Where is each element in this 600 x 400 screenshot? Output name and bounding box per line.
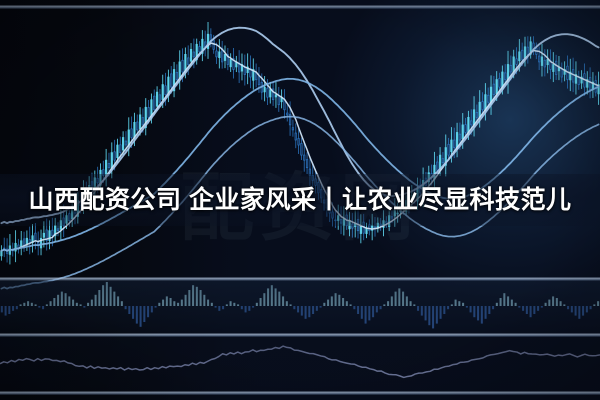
macd-bar bbox=[110, 287, 112, 306]
macd-bar bbox=[245, 306, 247, 312]
macd-bar bbox=[470, 306, 472, 312]
macd-bar bbox=[162, 300, 164, 306]
macd-bar bbox=[158, 303, 160, 306]
macd-bar bbox=[102, 285, 104, 306]
macd-bar bbox=[541, 306, 543, 308]
macd-bar bbox=[331, 296, 333, 306]
macd-bar bbox=[16, 306, 18, 309]
macd-bar bbox=[586, 306, 588, 312]
macd-bar bbox=[458, 301, 460, 306]
macd-bar bbox=[548, 300, 550, 306]
macd-bar bbox=[406, 296, 408, 306]
macd-bar bbox=[8, 306, 10, 314]
macd-bar bbox=[76, 303, 78, 306]
macd-bar bbox=[293, 306, 295, 309]
macd-bar bbox=[590, 306, 592, 309]
macd-bar bbox=[147, 306, 149, 317]
separator-top bbox=[0, 5, 600, 9]
macd-bar bbox=[23, 303, 25, 306]
macd-bar bbox=[335, 293, 337, 306]
macd-bar bbox=[578, 306, 580, 319]
macd-bar bbox=[196, 287, 198, 306]
macd-bar bbox=[113, 292, 115, 306]
macd-bar bbox=[308, 306, 310, 317]
macd-bar bbox=[563, 304, 565, 306]
macd-bar bbox=[593, 304, 595, 306]
macd-bar bbox=[218, 306, 220, 311]
macd-bar bbox=[252, 306, 254, 308]
chart-banner: 配资网 山西配资公司 企业家风采丨让农业尽显科技范儿 bbox=[0, 0, 600, 400]
macd-bar bbox=[556, 298, 558, 306]
macd-bar bbox=[503, 293, 505, 306]
macd-bar bbox=[188, 290, 190, 306]
macd-bar bbox=[46, 304, 48, 306]
macd-bar bbox=[323, 303, 325, 306]
macd-bar bbox=[1, 306, 3, 312]
macd-bar bbox=[192, 285, 194, 306]
macd-bar bbox=[237, 304, 239, 306]
macd-bar bbox=[466, 306, 468, 308]
macd-bar bbox=[342, 298, 344, 306]
macd-bar bbox=[65, 293, 67, 306]
macd-bar bbox=[410, 301, 412, 306]
macd-bar bbox=[57, 295, 59, 306]
macd-bar bbox=[477, 306, 479, 320]
macd-bar bbox=[522, 306, 524, 311]
macd-bar bbox=[361, 306, 363, 319]
macd-bar bbox=[106, 282, 108, 306]
macd-bar bbox=[155, 306, 157, 308]
macd-bar bbox=[226, 304, 228, 306]
macd-bar bbox=[481, 306, 483, 324]
macd-bar bbox=[488, 306, 490, 314]
ma-slow-line bbox=[1, 79, 598, 251]
macd-bar bbox=[350, 304, 352, 306]
macd-bar bbox=[365, 306, 367, 324]
macd-bar bbox=[121, 301, 123, 306]
macd-bar bbox=[35, 304, 37, 306]
macd-bar bbox=[455, 300, 457, 306]
macd-bar bbox=[203, 295, 205, 306]
macd-bar bbox=[473, 306, 475, 317]
macd-bar bbox=[436, 306, 438, 324]
candlestick-series bbox=[1, 22, 600, 264]
macd-bar bbox=[533, 306, 535, 314]
macd-bar bbox=[492, 306, 494, 309]
macd-bar bbox=[462, 303, 464, 306]
macd-bar bbox=[286, 301, 288, 306]
macd-bar bbox=[181, 300, 183, 306]
macd-bar bbox=[50, 301, 52, 306]
macd-bar bbox=[282, 296, 284, 306]
macd-bar bbox=[305, 306, 307, 319]
macd-bar bbox=[53, 298, 55, 306]
macd-bar bbox=[185, 295, 187, 306]
macd-bar bbox=[98, 290, 100, 306]
macd-bar bbox=[387, 301, 389, 306]
macd-bar bbox=[177, 303, 179, 306]
macd-bar bbox=[320, 306, 322, 308]
macd-bar bbox=[372, 306, 374, 317]
macd-bar bbox=[413, 304, 415, 306]
macd-bar bbox=[80, 304, 82, 306]
macd-bar bbox=[132, 306, 134, 319]
macd-bar bbox=[128, 306, 130, 314]
macd-bar bbox=[27, 301, 29, 306]
macd-bar bbox=[443, 306, 445, 314]
macd-bar bbox=[425, 306, 427, 320]
macd-bar bbox=[297, 306, 299, 312]
macd-bar bbox=[215, 306, 217, 308]
macd-bar bbox=[207, 300, 209, 306]
macd-bar bbox=[567, 306, 569, 309]
macd-bar bbox=[248, 306, 250, 311]
macd-bar bbox=[515, 303, 517, 306]
macd-bar bbox=[38, 306, 40, 308]
macd-bar bbox=[391, 296, 393, 306]
macd-bar bbox=[597, 301, 599, 306]
macd-bar bbox=[143, 306, 145, 322]
macd-bar bbox=[357, 306, 359, 314]
macd-bar bbox=[376, 306, 378, 312]
macd-bar bbox=[496, 303, 498, 306]
macd-bar bbox=[526, 306, 528, 314]
macd-bar bbox=[271, 285, 273, 306]
macd-bar bbox=[485, 306, 487, 319]
macd-bar bbox=[380, 306, 382, 309]
macd-bar bbox=[368, 306, 370, 320]
macd-bar bbox=[275, 288, 277, 306]
macd-bar bbox=[346, 301, 348, 306]
macd-bar bbox=[432, 306, 434, 328]
macd-bar bbox=[353, 306, 355, 309]
macd-bar bbox=[125, 306, 127, 309]
macd-bar bbox=[170, 298, 172, 306]
macd-bar bbox=[571, 306, 573, 312]
separator-bottom bbox=[0, 391, 600, 395]
separator-macd-lower bbox=[0, 333, 600, 337]
macd-bar bbox=[338, 295, 340, 306]
macd-bar bbox=[447, 306, 449, 309]
macd-bar bbox=[20, 304, 22, 306]
macd-bar bbox=[5, 306, 7, 316]
macd-bar bbox=[278, 292, 280, 306]
macd-bar bbox=[267, 288, 269, 306]
page-title: 山西配资公司 企业家风采丨让农业尽显科技范儿 bbox=[0, 181, 600, 219]
macd-bar bbox=[91, 300, 93, 306]
macd-bar bbox=[395, 292, 397, 306]
macd-bar bbox=[140, 306, 142, 327]
macd-bar bbox=[500, 298, 502, 306]
macd-bar bbox=[327, 300, 329, 306]
macd-bar bbox=[398, 288, 400, 306]
macd-bar bbox=[417, 306, 419, 311]
macd-bar bbox=[68, 296, 70, 306]
macd-bar bbox=[290, 304, 292, 306]
macd-bar bbox=[301, 306, 303, 316]
macd-bar bbox=[31, 303, 33, 306]
macd-bar bbox=[173, 301, 175, 306]
macd-bar bbox=[552, 296, 554, 306]
macd-bar bbox=[211, 303, 213, 306]
macd-bar bbox=[263, 293, 265, 306]
macd-bar bbox=[383, 304, 385, 306]
macd-bar bbox=[233, 303, 235, 306]
lower-indicator-line bbox=[0, 346, 600, 377]
macd-bar bbox=[166, 296, 168, 306]
macd-bar bbox=[511, 300, 513, 306]
macd-bar bbox=[95, 295, 97, 306]
macd-bar bbox=[260, 298, 262, 306]
macd-bar bbox=[117, 296, 119, 306]
macd-bar bbox=[12, 306, 14, 311]
macd-bar bbox=[87, 303, 89, 306]
macd-bar bbox=[537, 306, 539, 311]
separator-price-macd bbox=[0, 277, 600, 281]
macd-bar bbox=[545, 303, 547, 306]
macd-bar bbox=[507, 296, 509, 306]
macd-bar bbox=[316, 306, 318, 311]
macd-bar bbox=[421, 306, 423, 316]
macd-bar bbox=[440, 306, 442, 319]
macd-bar bbox=[518, 306, 520, 308]
macd-bar bbox=[241, 306, 243, 309]
macd-bar bbox=[451, 304, 453, 306]
macd-bar bbox=[200, 290, 202, 306]
macd-bar bbox=[402, 292, 404, 306]
macd-bar bbox=[575, 306, 577, 316]
macd-bar bbox=[312, 306, 314, 314]
macd-bar bbox=[83, 306, 85, 308]
macd-bar bbox=[428, 306, 430, 325]
macd-bar bbox=[530, 306, 532, 317]
macd-bar bbox=[61, 292, 63, 306]
macd-histogram bbox=[1, 282, 599, 328]
macd-bar bbox=[42, 306, 44, 309]
macd-bar bbox=[72, 300, 74, 306]
macd-bar bbox=[560, 301, 562, 306]
macd-bar bbox=[136, 306, 138, 324]
macd-bar bbox=[222, 306, 224, 309]
macd-bar bbox=[151, 306, 153, 312]
macd-bar bbox=[230, 301, 232, 306]
macd-bar bbox=[582, 306, 584, 316]
macd-bar bbox=[256, 303, 258, 306]
